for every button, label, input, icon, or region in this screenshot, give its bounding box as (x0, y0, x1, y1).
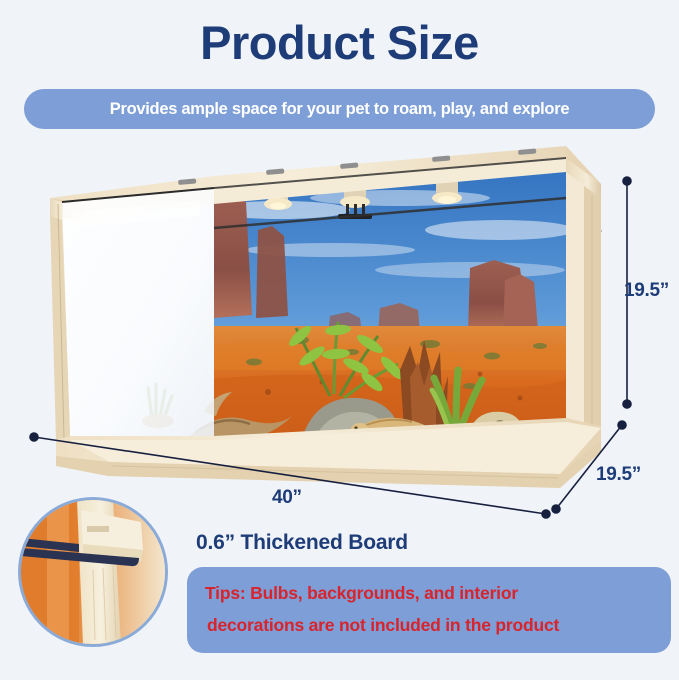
board-thickness-label: 0.6” Thickened Board (196, 531, 408, 555)
width-dimension-label: 40” (272, 487, 302, 509)
board-edge-detail-inset (18, 497, 168, 647)
tips-line-2: decorations are not included in the prod… (205, 609, 657, 641)
depth-dimension-label: 19.5” (596, 464, 641, 486)
tips-line-1: Tips: Bulbs, backgrounds, and interior (205, 577, 657, 609)
board-edge-closeup (21, 500, 165, 644)
height-dimension-label: 19.5” (624, 280, 669, 302)
tips-box: Tips: Bulbs, backgrounds, and interior d… (187, 567, 671, 653)
